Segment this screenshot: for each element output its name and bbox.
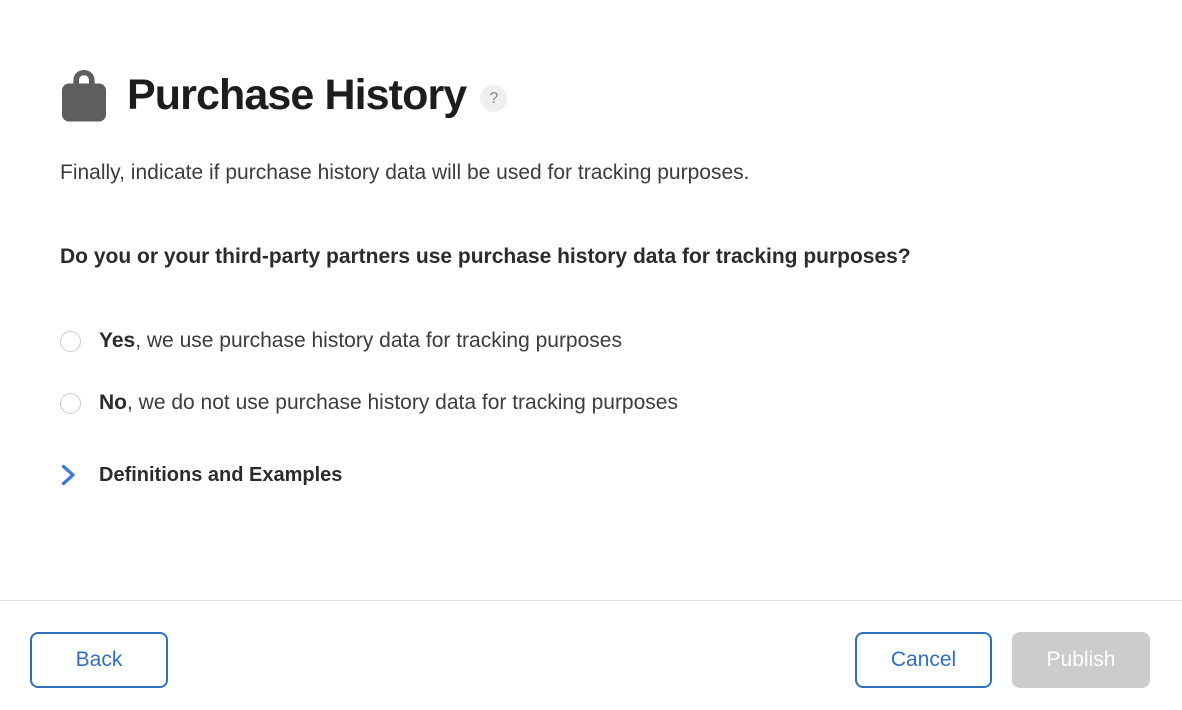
page-title: Purchase History [127, 74, 466, 117]
footer-actions: Back Cancel Publish [0, 601, 1182, 710]
publish-button: Publish [1012, 632, 1150, 688]
intro-text: Finally, indicate if purchase history da… [60, 159, 749, 187]
radio-label-yes-rest: , we use purchase history data for track… [135, 329, 622, 352]
radio-label-no-emphasis: No [99, 391, 127, 414]
radio-circle-no[interactable] [60, 393, 81, 414]
shopping-bag-icon [60, 68, 108, 122]
radio-label-no: No, we do not use purchase history data … [99, 389, 678, 417]
radio-option-yes[interactable]: Yes, we use purchase history data for tr… [60, 322, 1060, 360]
chevron-right-icon [60, 464, 78, 486]
definitions-disclosure[interactable]: Definitions and Examples [60, 458, 342, 492]
tracking-radio-group: Yes, we use purchase history data for tr… [60, 322, 1060, 446]
help-icon[interactable]: ? [480, 85, 507, 112]
radio-option-no[interactable]: No, we do not use purchase history data … [60, 384, 1060, 422]
question-text: Do you or your third-party partners use … [60, 243, 911, 271]
radio-label-no-rest: , we do not use purchase history data fo… [127, 391, 678, 414]
definitions-disclosure-label: Definitions and Examples [99, 464, 342, 487]
radio-label-yes: Yes, we use purchase history data for tr… [99, 327, 622, 355]
radio-label-yes-emphasis: Yes [99, 329, 135, 352]
radio-circle-yes[interactable] [60, 331, 81, 352]
purchase-history-panel: Purchase History ? Finally, indicate if … [0, 0, 1182, 710]
cancel-button[interactable]: Cancel [855, 632, 992, 688]
page-header: Purchase History ? [60, 64, 507, 126]
back-button[interactable]: Back [30, 632, 168, 688]
